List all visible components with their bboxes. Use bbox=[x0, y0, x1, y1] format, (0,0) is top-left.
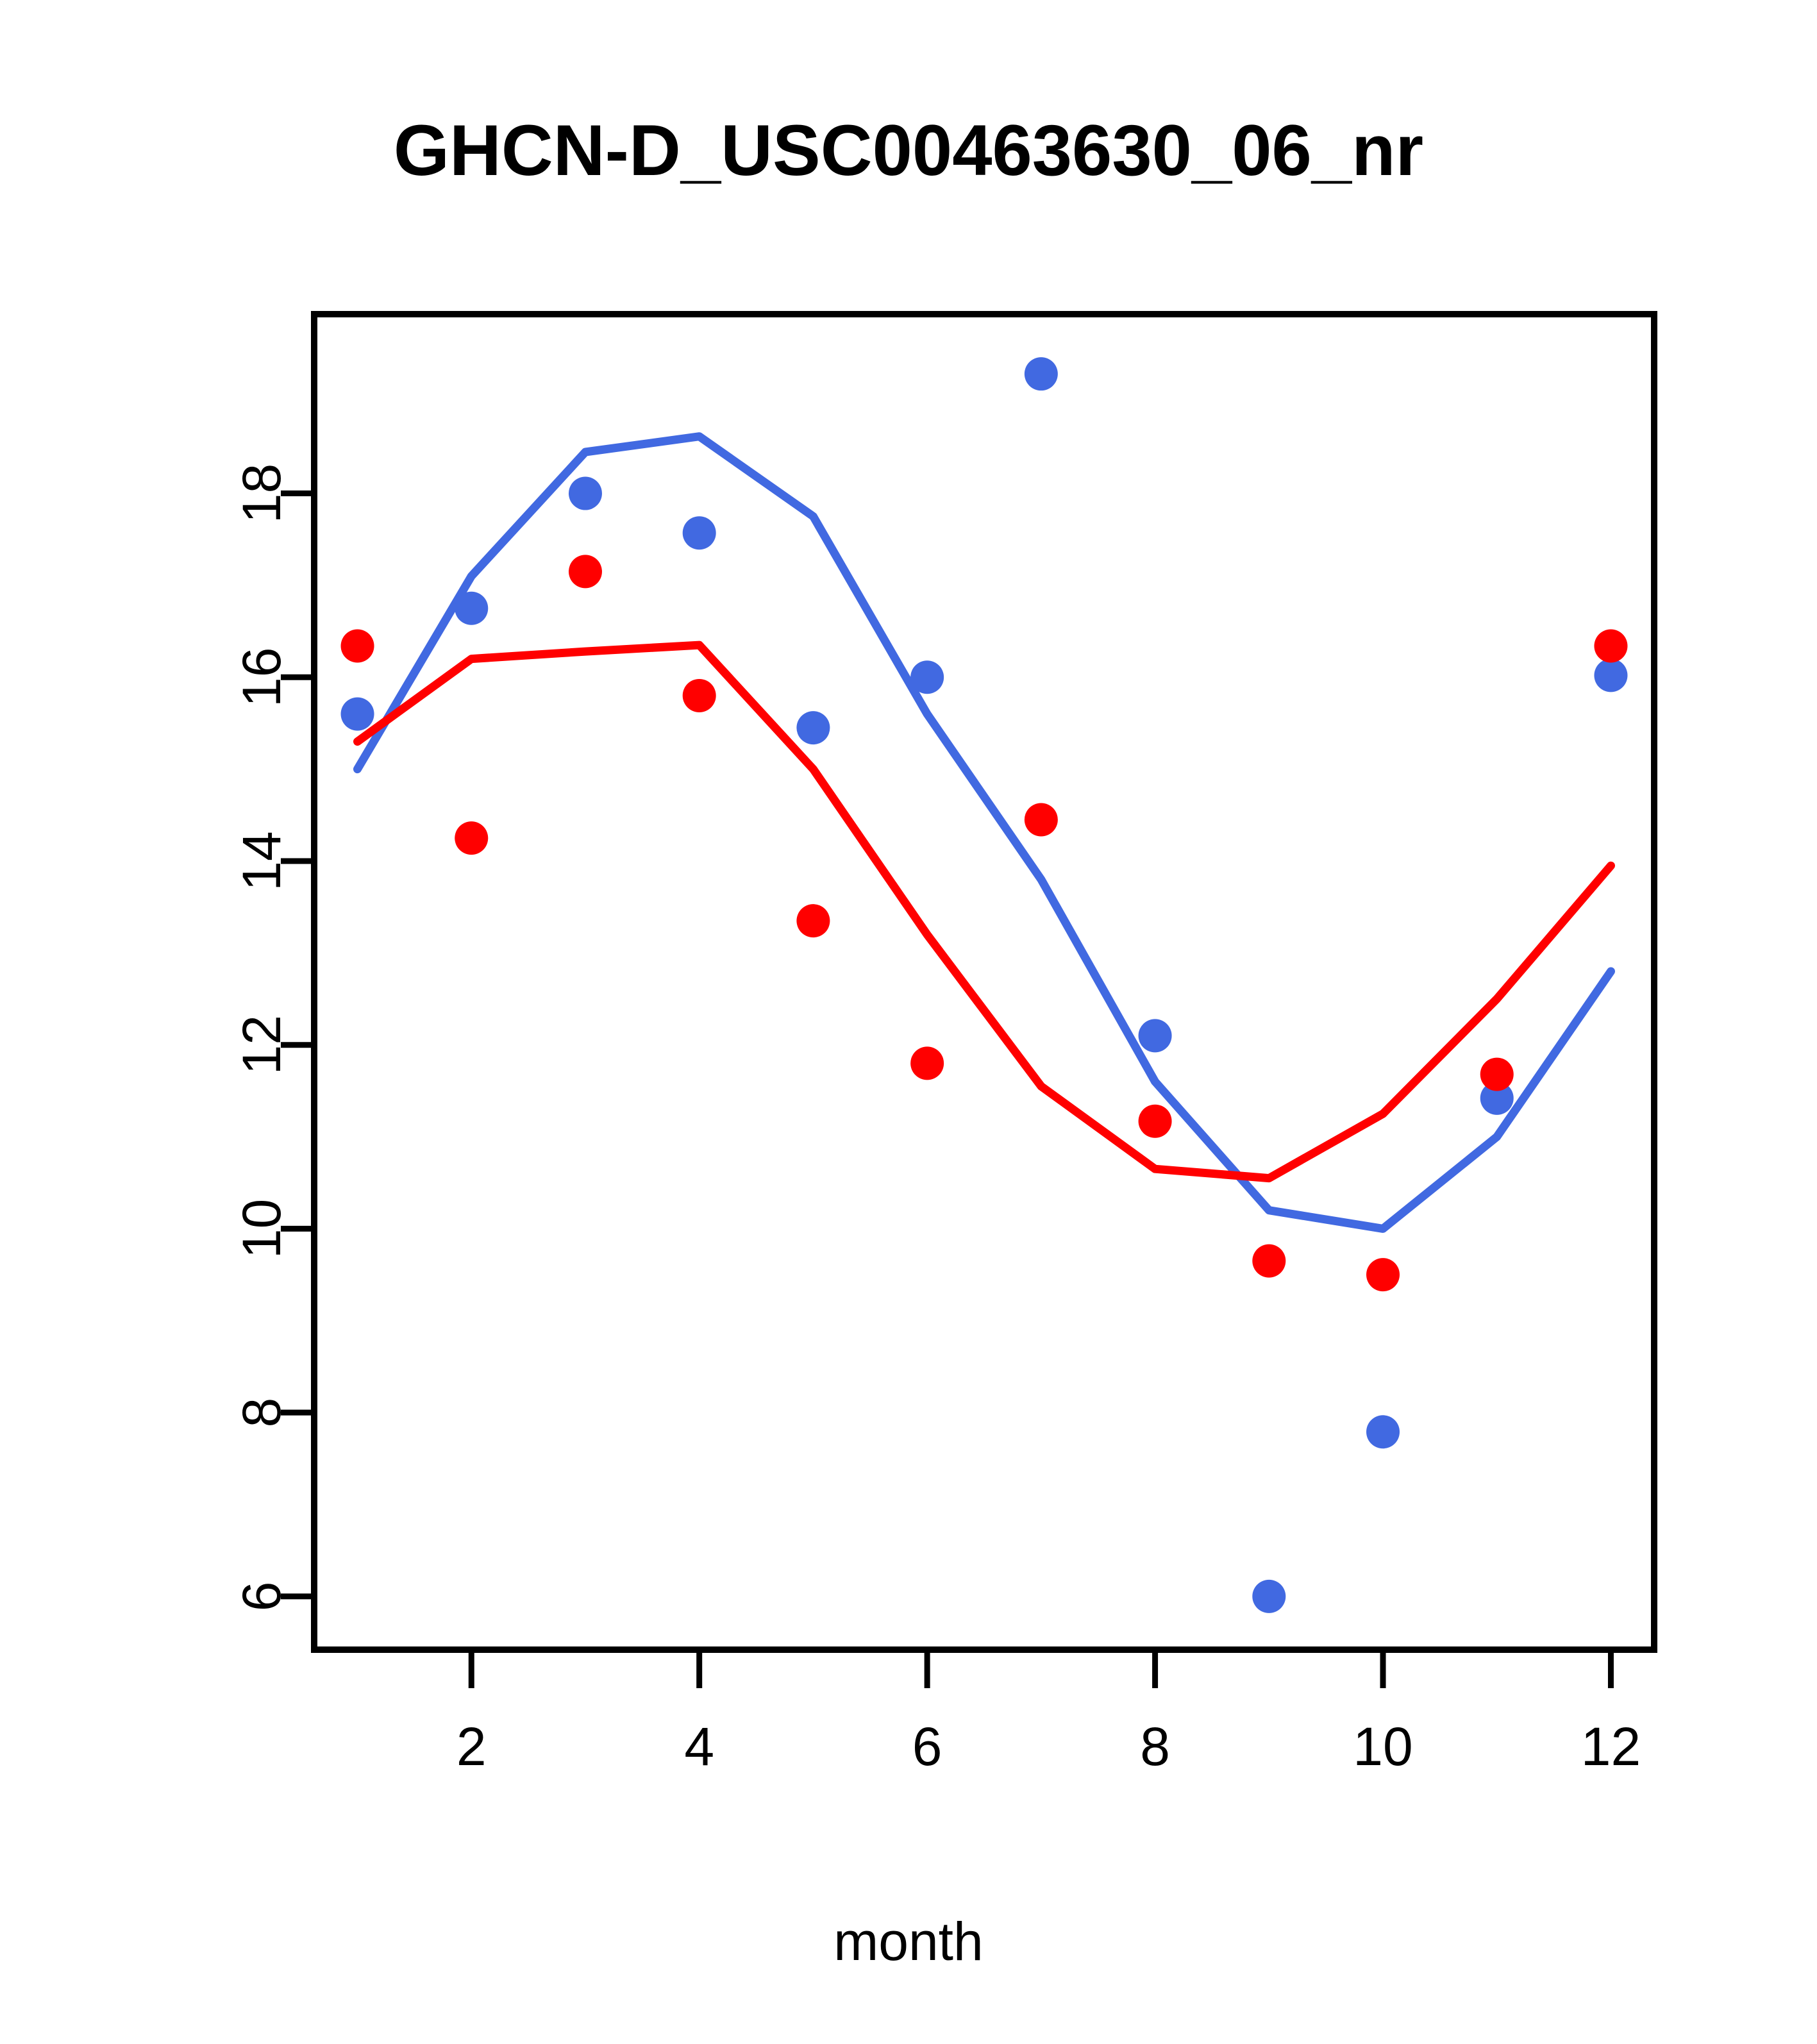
red-point bbox=[1594, 630, 1627, 663]
x-tick-label: 8 bbox=[1140, 1716, 1170, 1777]
y-tick-label: 14 bbox=[231, 831, 292, 891]
line-layer bbox=[358, 437, 1611, 1229]
y-tick-label: 16 bbox=[231, 648, 292, 707]
plot-area: 68101214161824681012 bbox=[0, 0, 1817, 2044]
y-tick-label: 8 bbox=[231, 1398, 292, 1428]
x-tick-label: 2 bbox=[456, 1716, 487, 1777]
red-point bbox=[341, 630, 374, 663]
y-tick-label: 10 bbox=[231, 1199, 292, 1259]
x-tick-label: 6 bbox=[912, 1716, 942, 1777]
blue-point bbox=[1366, 1415, 1400, 1448]
red-point bbox=[683, 679, 716, 712]
red-point bbox=[1139, 1105, 1172, 1138]
blue-point bbox=[1139, 1019, 1172, 1052]
blue-point bbox=[683, 516, 716, 549]
y-tick-label: 18 bbox=[231, 464, 292, 523]
blue-point bbox=[1025, 357, 1058, 390]
point-layer bbox=[341, 357, 1628, 1613]
axis-layer bbox=[281, 314, 1654, 1688]
blue-point bbox=[569, 477, 602, 510]
blue-point bbox=[1252, 1580, 1285, 1613]
red-line bbox=[358, 645, 1611, 1178]
blue-line bbox=[358, 437, 1611, 1229]
x-axis-label: month bbox=[0, 1911, 1817, 1973]
x-tick-label: 12 bbox=[1581, 1716, 1641, 1777]
x-tick-label: 10 bbox=[1353, 1716, 1412, 1777]
y-tick-label: 6 bbox=[231, 1581, 292, 1611]
red-point bbox=[1366, 1258, 1400, 1291]
blue-point bbox=[910, 660, 944, 694]
red-point bbox=[455, 821, 488, 855]
blue-point bbox=[341, 698, 374, 731]
plot-border bbox=[314, 314, 1654, 1650]
scatter-plot-svg: 68101214161824681012 bbox=[0, 0, 1817, 2044]
x-tick-label: 4 bbox=[684, 1716, 714, 1777]
red-point bbox=[569, 555, 602, 588]
blue-point bbox=[796, 711, 830, 744]
red-point bbox=[910, 1046, 944, 1080]
chart-page: GHCN-D_USC00463630_06_nr 681012141618246… bbox=[0, 0, 1817, 2044]
red-point bbox=[796, 904, 830, 937]
tick-label-layer: 68101214161824681012 bbox=[231, 464, 1641, 1777]
blue-point bbox=[1594, 658, 1627, 692]
red-point bbox=[1025, 803, 1058, 836]
red-point bbox=[1480, 1058, 1514, 1091]
blue-point bbox=[455, 592, 488, 625]
y-tick-label: 12 bbox=[231, 1015, 292, 1075]
red-point bbox=[1252, 1244, 1285, 1278]
